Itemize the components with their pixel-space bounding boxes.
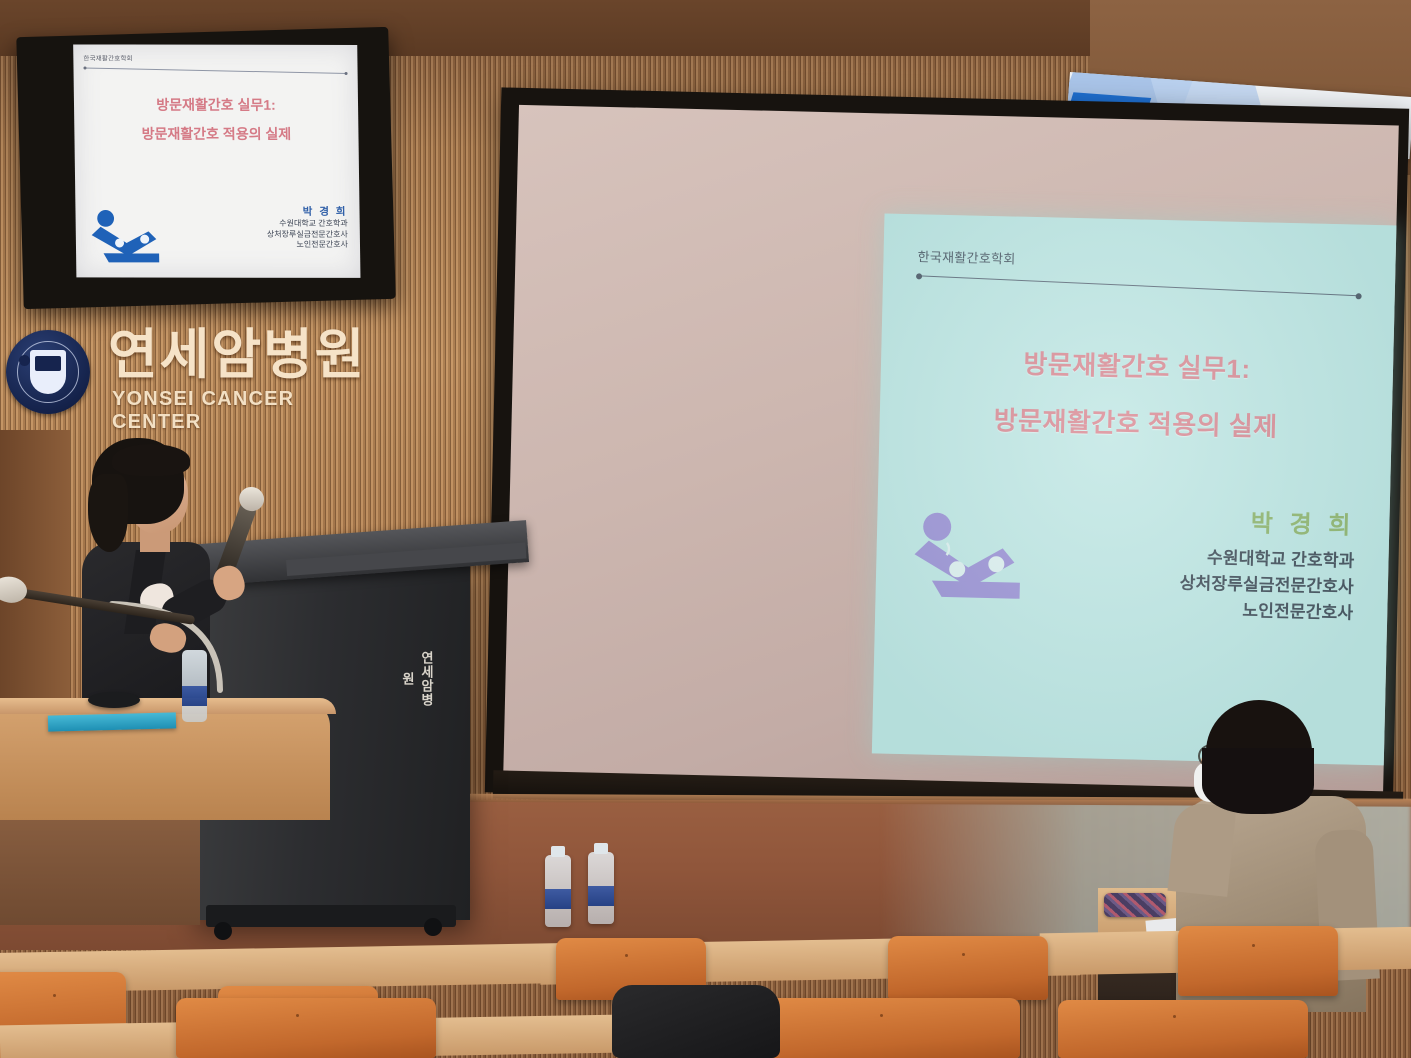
audience-seat	[1058, 1000, 1308, 1058]
slide-affiliation-2: 상처장루실금전문간호사	[1179, 571, 1354, 601]
water-bottle	[545, 855, 571, 927]
microphone-base	[88, 692, 140, 708]
water-bottle	[588, 852, 614, 924]
podium-caster	[214, 922, 232, 940]
slide-affiliation-3: 노인전문간호사	[1179, 597, 1354, 627]
monitor-header-rule	[83, 63, 347, 72]
speaker-hair-side	[88, 474, 128, 552]
podium-base	[206, 905, 456, 927]
seal-shield-dot	[19, 355, 30, 366]
black-bag	[612, 985, 780, 1058]
slide-title-line2: 방문재활간호 적용의 실제	[913, 398, 1358, 445]
patient-in-adjustable-bed-icon	[87, 205, 168, 267]
yonsei-cancer-center-wall-sign: 연세암병원 YONSEI CANCER CENTER	[2, 322, 382, 426]
slide-title-line1: 방문재활간호 실무1:	[915, 341, 1360, 388]
wall-mounted-monitor: 한국재활간호학회 방문재활간호 실무1: 방문재활간호 적용의 실제 박 경 희…	[16, 27, 395, 309]
slide-affiliation-1: 수원대학교 간호학과	[1180, 545, 1355, 575]
monitor-title-line1: 방문재활간호 실무1:	[84, 94, 348, 114]
projected-slide: 한국재활간호학회 방문재활간호 실무1: 방문재활간호 적용의 실제	[872, 213, 1397, 765]
audience-seat	[1178, 926, 1338, 996]
yonsei-university-seal-icon	[6, 330, 90, 414]
wall-sign-english: YONSEI CANCER CENTER	[112, 388, 382, 434]
patient-in-adjustable-bed-icon	[909, 508, 1031, 607]
podium-label: 연세암병원	[414, 648, 436, 710]
monitor-affiliation-1: 수원대학교 간호학과	[267, 219, 348, 229]
auditorium-photo-scene: 일시 : 2 한국재활간호학회 방문재활간호 실무1: 방문재활간호 적용의 실…	[0, 0, 1411, 1058]
audience-seat	[760, 998, 1020, 1058]
monitor-affiliation-2: 상처장루실금전문간호사	[267, 229, 348, 239]
floral-pouch	[1104, 893, 1166, 917]
audience-seat	[176, 998, 436, 1058]
monitor-presenter-name: 박 경 희	[266, 206, 347, 220]
attendee-shoulder	[1167, 801, 1236, 897]
podium-caster	[424, 918, 442, 936]
attendee-hair-back	[1202, 748, 1314, 814]
monitor-affiliation-3: 노인전문간호사	[267, 240, 348, 250]
seal-shield-icon	[30, 350, 66, 394]
speaker-fringe	[112, 444, 190, 476]
slide-presenter-name: 박 경 희	[1181, 505, 1356, 546]
boom-mic-head	[0, 574, 29, 605]
wall-sign-korean: 연세암병원	[108, 326, 366, 384]
monitor-slide-header: 한국재활간호학회	[83, 52, 347, 62]
monitor-title-line2: 방문재활간호 적용의 실제	[84, 123, 348, 143]
monitor-screen: 한국재활간호학회 방문재활간호 실무1: 방문재활간호 적용의 실제 박 경 희…	[73, 44, 360, 277]
audience-seat	[888, 936, 1048, 1000]
projection-screen-surface: 한국재활간호학회 방문재활간호 실무1: 방문재활간호 적용의 실제	[503, 105, 1399, 800]
